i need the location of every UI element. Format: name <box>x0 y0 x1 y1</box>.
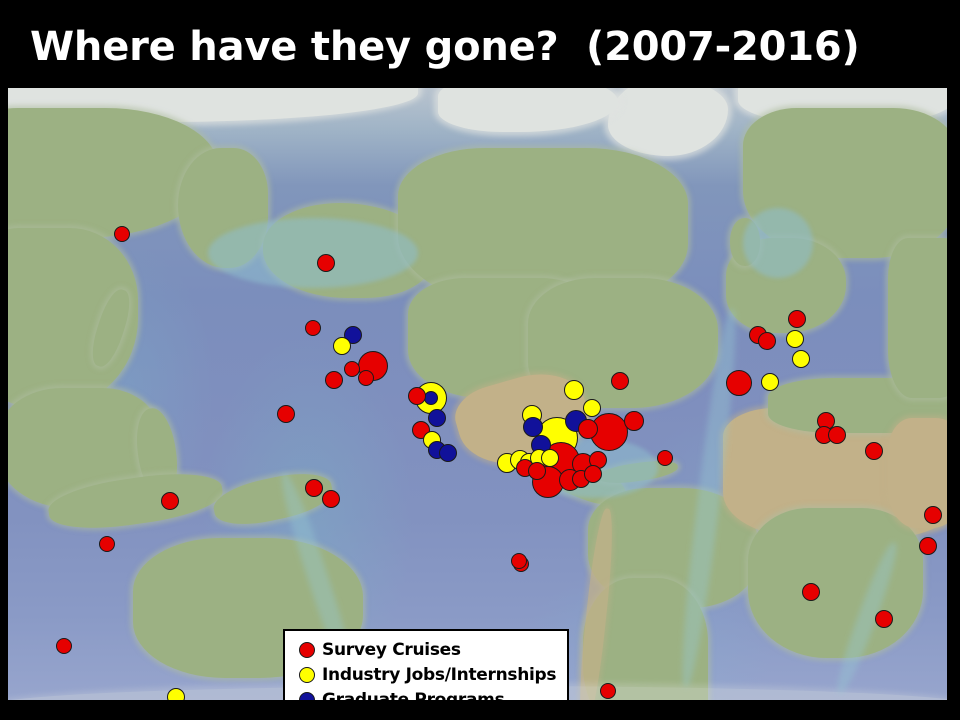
map-data-point-red <box>325 371 343 389</box>
world-map[interactable]: Survey Cruises Industry Jobs/Internships… <box>8 88 947 700</box>
legend-label-graduate-programs: Graduate Programs <box>322 690 504 701</box>
legend-item-survey-cruises: Survey Cruises <box>299 637 567 662</box>
map-data-point-red <box>511 553 527 569</box>
map-data-point-red <box>657 450 673 466</box>
landmass-canada-arctic <box>438 88 618 132</box>
map-legend: Survey Cruises Industry Jobs/Internships… <box>283 629 569 700</box>
map-data-point-red <box>408 387 426 405</box>
map-data-point-yellow <box>792 350 810 368</box>
map-data-point-red <box>528 462 546 480</box>
map-data-point-red <box>277 405 295 423</box>
shelf-north-sea <box>743 208 813 278</box>
landmass-sub-saharan-africa <box>748 508 923 658</box>
legend-swatch-blue-circle-icon <box>299 692 315 701</box>
map-data-point-red <box>322 490 340 508</box>
map-data-point-red <box>758 332 776 350</box>
map-data-point-ring-core <box>424 391 438 405</box>
map-data-point-red <box>828 426 846 444</box>
map-data-point-blue <box>428 409 446 427</box>
map-data-point-red <box>305 479 323 497</box>
landmass-new-guinea <box>210 466 336 532</box>
legend-swatch-red-circle-icon <box>299 642 315 658</box>
map-data-point-yellow <box>167 688 185 700</box>
map-data-point-red <box>114 226 130 242</box>
map-data-point-yellow <box>761 373 779 391</box>
map-data-point-yellow <box>564 380 584 400</box>
legend-label-survey-cruises: Survey Cruises <box>322 640 461 660</box>
landmass-greenland <box>608 88 728 156</box>
map-data-point-blue <box>439 444 457 462</box>
map-data-point-red <box>788 310 806 328</box>
slide-root: Where have they gone? (2007-2016) <box>0 0 960 720</box>
map-data-point-red <box>726 370 752 396</box>
map-data-point-red <box>865 442 883 460</box>
page-title: Where have they gone? (2007-2016) <box>30 22 930 78</box>
map-data-point-red <box>161 492 179 510</box>
map-data-point-red <box>317 254 335 272</box>
map-data-point-yellow <box>786 330 804 348</box>
map-data-point-red <box>600 683 616 699</box>
map-data-point-yellow <box>583 399 601 417</box>
map-data-point-red <box>802 583 820 601</box>
shelf-bering <box>208 218 418 288</box>
map-data-point-red <box>919 537 937 555</box>
map-data-point-red <box>584 465 602 483</box>
legend-swatch-yellow-circle-icon <box>299 667 315 683</box>
legend-item-industry-jobs: Industry Jobs/Internships <box>299 662 567 687</box>
map-data-point-red <box>924 506 942 524</box>
map-data-point-red <box>358 370 374 386</box>
map-basemap <box>8 88 947 700</box>
map-data-point-red <box>611 372 629 390</box>
map-data-point-blue <box>523 417 543 437</box>
map-data-point-red <box>578 419 598 439</box>
map-data-point-yellow <box>333 337 351 355</box>
legend-label-industry-jobs: Industry Jobs/Internships <box>322 665 556 685</box>
legend-item-graduate-programs: Graduate Programs <box>299 687 567 700</box>
map-data-point-red <box>99 536 115 552</box>
map-data-point-red <box>56 638 72 654</box>
map-data-point-red <box>875 610 893 628</box>
map-data-point-red <box>305 320 321 336</box>
map-data-point-red <box>624 411 644 431</box>
landmass-central-asia <box>888 238 947 398</box>
